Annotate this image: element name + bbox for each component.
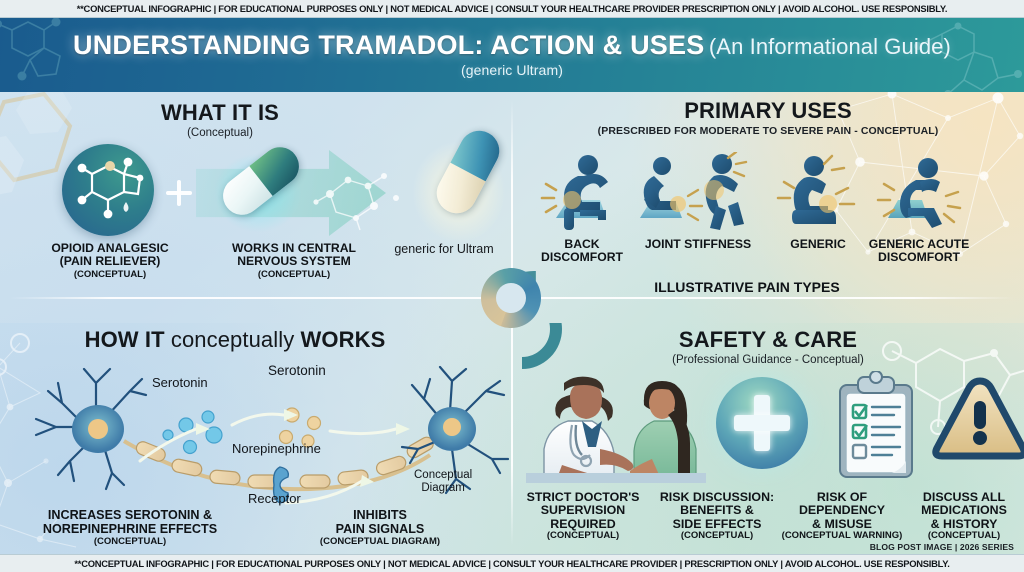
person-back-pain-icon	[534, 152, 630, 236]
section-primary-uses: PRIMARY USES (PRESCRIBED FOR MODERATE TO…	[512, 92, 1024, 323]
bottom-disclaimer-bar: **CONCEPTUAL INFOGRAPHIC | FOR EDUCATION…	[0, 554, 1024, 572]
title-main-text: UNDERSTANDING TRAMADOL: ACTION & USES	[73, 30, 704, 60]
what-it-is-heading-block: WHAT IT IS (Conceptual)	[0, 100, 440, 139]
person-acute-pain-icon	[864, 152, 974, 236]
what-it-is-heading: WHAT IT IS	[0, 100, 440, 126]
person-kneeling-pain-icon	[770, 152, 866, 236]
safety-care-note-2: (CONCEPTUAL WARNING)	[770, 531, 914, 541]
primary-uses-footer: ILLUSTRATIVE PAIN TYPES	[512, 280, 982, 295]
warning-triangle-icon	[932, 375, 1024, 479]
what-it-is-label-1: WORKS IN CENTRAL NERVOUS SYSTEM	[204, 242, 384, 268]
medical-cross-icon	[716, 377, 808, 469]
what-it-is-label-0: OPIOID ANALGESIC (PAIN RELIEVER)	[30, 242, 190, 268]
section-what-it-is: WHAT IT IS (Conceptual)	[0, 92, 512, 323]
serotonin-label-right: Serotonin	[268, 363, 326, 378]
section-safety-care: SAFETY & CARE (Professional Guidance - C…	[512, 323, 1024, 554]
main-content-area: WHAT IT IS (Conceptual)	[0, 92, 1024, 554]
how-it-works-label-0: INCREASES SEROTONIN & NOREPINEPHRINE EFF…	[20, 509, 240, 536]
safety-care-note-3: (CONCEPTUAL)	[904, 531, 1024, 541]
safety-care-heading: SAFETY & CARE	[512, 327, 1024, 353]
pain-type-label-2: GENERIC	[770, 238, 866, 251]
title-parenthetical-text: (An Informational Guide)	[709, 34, 951, 59]
safety-care-label-3: DISCUSS ALL MEDICATIONS & HISTORY	[904, 491, 1024, 531]
primary-uses-subheading: (PRESCRIBED FOR MODERATE TO SEVERE PAIN …	[512, 125, 1024, 137]
how-it-works-heading: HOW IT conceptually WORKS	[0, 327, 470, 353]
how-it-works-note-0: (CONCEPTUAL)	[20, 537, 240, 547]
person-joint-pain-icon	[630, 152, 766, 236]
serotonin-label-left: Serotonin	[152, 375, 208, 390]
safety-care-note-0: (CONCEPTUAL)	[518, 531, 648, 541]
top-disclaimer-bar: **CONCEPTUAL INFOGRAPHIC | FOR EDUCATION…	[0, 0, 1024, 18]
pain-type-label-1: JOINT STIFFNESS	[630, 238, 766, 251]
primary-uses-heading-block: PRIMARY USES (PRESCRIBED FOR MODERATE TO…	[512, 98, 1024, 137]
molecule-icon	[62, 144, 154, 236]
center-ring-decoration	[481, 268, 541, 328]
conceptual-diagram-label: Conceptual Diagram	[414, 469, 472, 495]
safety-care-heading-block: SAFETY & CARE (Professional Guidance - C…	[512, 327, 1024, 366]
doctor-patient-icon	[526, 373, 706, 483]
how-it-works-note-1: (CONCEPTUAL DIAGRAM)	[290, 537, 470, 547]
molecule-network-icon	[310, 154, 402, 232]
plus-icon	[166, 180, 192, 206]
generic-for-ultram-caption: generic for Ultram	[376, 242, 512, 256]
how-it-works-heading-p3: WORKS	[294, 327, 385, 352]
pain-type-item-1: JOINT STIFFNESS	[630, 152, 766, 251]
safety-care-note-1: (CONCEPTUAL)	[652, 531, 782, 541]
pain-types-row: BACK DISCOMFORT	[524, 152, 924, 252]
safety-care-label-1: RISK DISCUSSION: BENEFITS & SIDE EFFECTS	[652, 491, 782, 531]
clipboard-checklist-icon	[830, 371, 922, 481]
what-it-is-note-1: (CONCEPTUAL)	[204, 270, 384, 280]
top-disclaimer-text: **CONCEPTUAL INFOGRAPHIC | FOR EDUCATION…	[77, 3, 947, 14]
safety-care-label-2: RISK OF DEPENDENCY & MISUSE	[782, 491, 902, 531]
how-it-works-label-1: INHIBITS PAIN SIGNALS	[290, 509, 470, 536]
bottom-disclaimer-text: **CONCEPTUAL INFOGRAPHIC | FOR EDUCATION…	[74, 558, 949, 569]
how-it-works-heading-block: HOW IT conceptually WORKS	[0, 327, 470, 353]
how-it-works-heading-p2: conceptually	[171, 327, 295, 352]
page-title: UNDERSTANDING TRAMADOL: ACTION & USES (A…	[73, 32, 951, 60]
safety-care-label-0: STRICT DOCTOR'S SUPERVISION REQUIRED	[518, 491, 648, 531]
safety-icons-row	[520, 373, 1020, 483]
infographic-page: **CONCEPTUAL INFOGRAPHIC | FOR EDUCATION…	[0, 0, 1024, 572]
header-banner: UNDERSTANDING TRAMADOL: ACTION & USES (A…	[0, 18, 1024, 92]
section-how-it-works: HOW IT conceptually WORKS	[0, 323, 512, 554]
norepinephrine-label: Norepinephrine	[232, 441, 321, 456]
what-it-is-subheading: (Conceptual)	[0, 127, 440, 139]
pain-type-item-2: GENERIC	[770, 152, 866, 251]
pain-type-item-0: BACK DISCOMFORT	[534, 152, 630, 264]
pain-type-label-0: BACK DISCOMFORT	[534, 238, 630, 264]
title-subtitle-text: (generic Ultram)	[461, 62, 563, 78]
safety-care-subheading: (Professional Guidance - Conceptual)	[512, 354, 1024, 366]
pain-type-label-3: GENERIC ACUTE DISCOMFORT	[864, 238, 974, 264]
receptor-label: Receptor	[248, 491, 301, 506]
molecule-structure-icon	[62, 144, 154, 236]
pain-type-item-3: GENERIC ACUTE DISCOMFORT	[864, 152, 974, 264]
primary-uses-heading: PRIMARY USES	[512, 98, 1024, 124]
how-it-works-heading-p1: HOW IT	[85, 327, 171, 352]
what-it-is-note-0: (CONCEPTUAL)	[30, 270, 190, 280]
credit-text: BLOG POST IMAGE | 2026 SERIES	[870, 542, 1014, 552]
